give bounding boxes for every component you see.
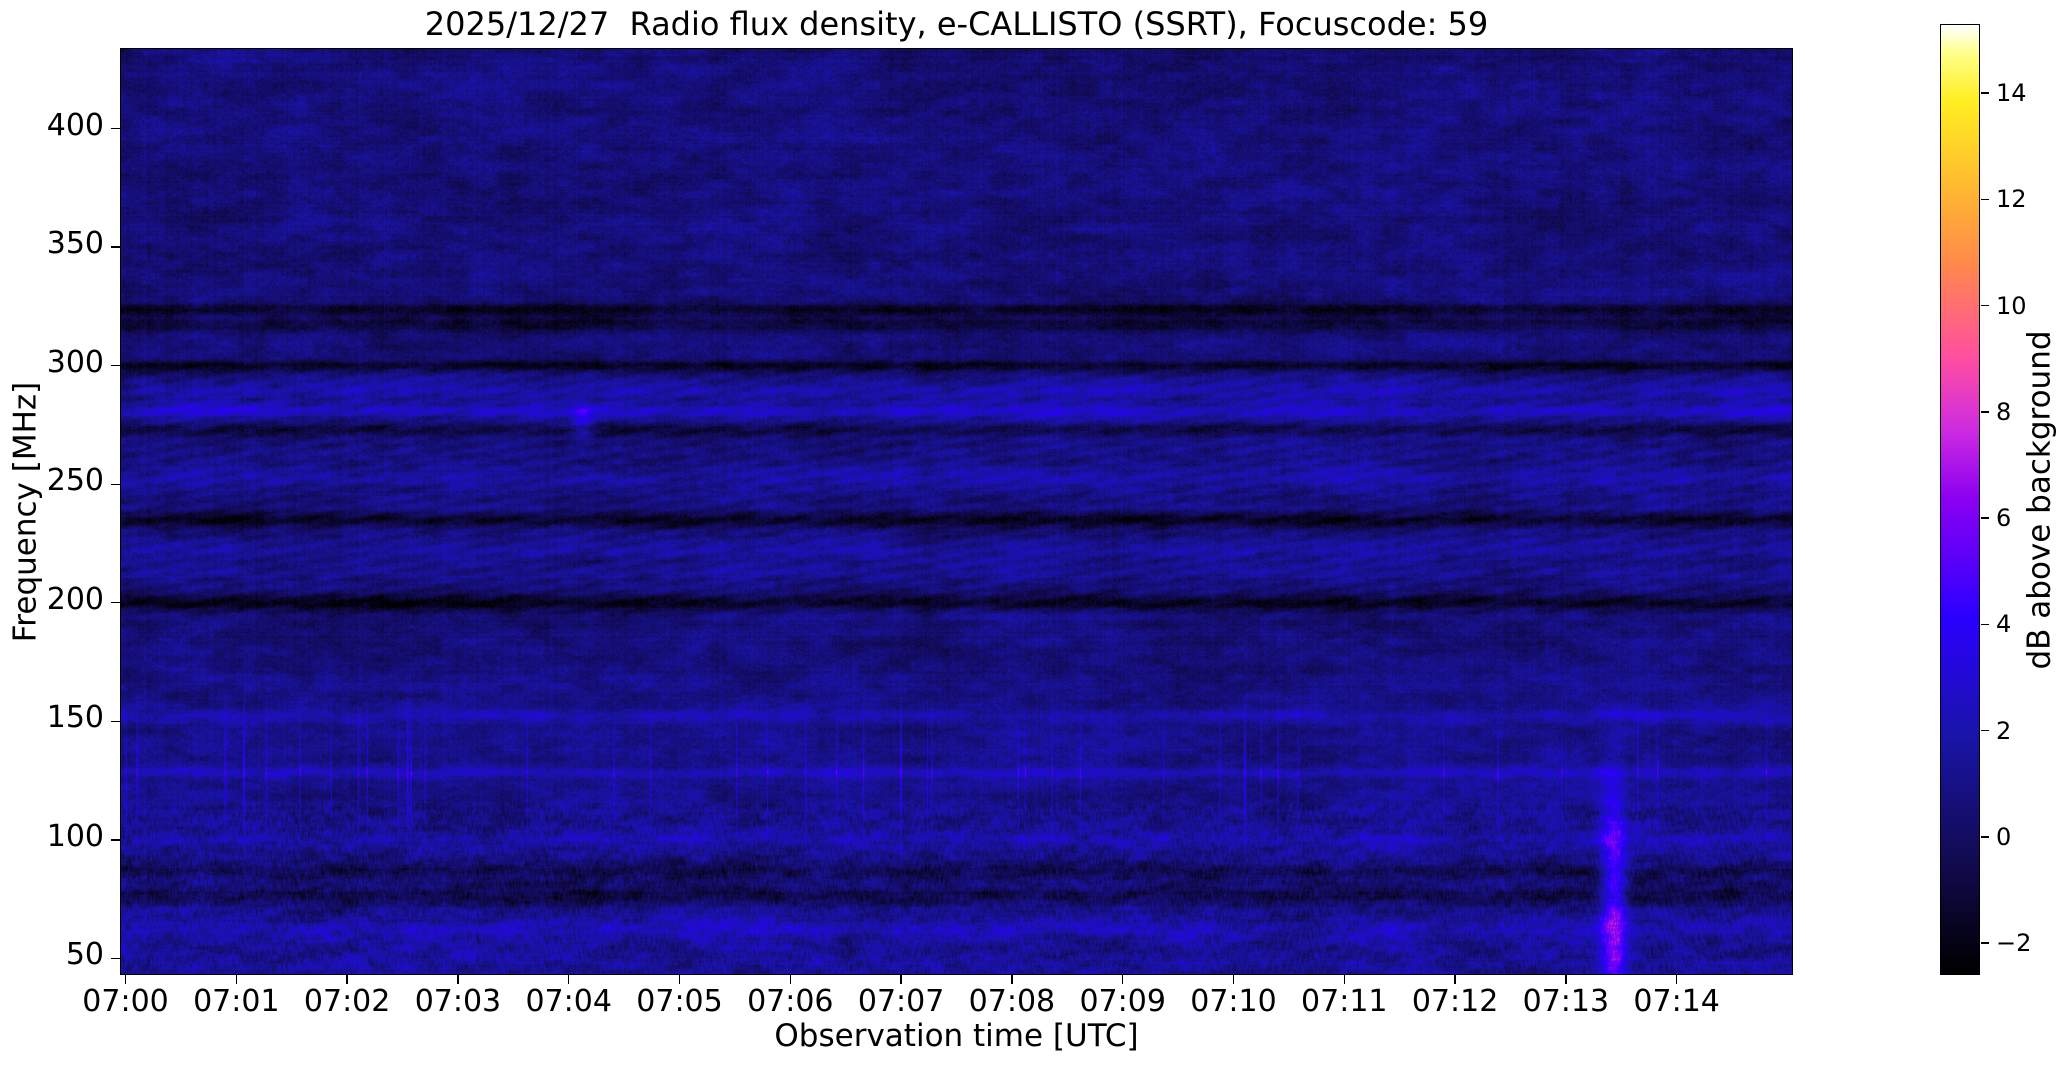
x-tick-label: 07:09 xyxy=(1079,984,1165,1019)
x-tick-mark xyxy=(1454,975,1455,984)
y-tick-mark xyxy=(111,602,120,603)
x-tick-mark xyxy=(125,975,126,984)
x-tick-mark xyxy=(457,975,458,984)
x-tick-mark xyxy=(568,975,569,984)
y-tick-label: 100 xyxy=(34,819,104,854)
y-tick-label: 400 xyxy=(34,108,104,143)
colorbar-tick-mark xyxy=(1981,411,1989,412)
y-tick-label: 300 xyxy=(34,345,104,380)
x-tick-mark xyxy=(1011,975,1012,984)
colorbar-tick-mark xyxy=(1981,624,1989,625)
x-tick-mark xyxy=(900,975,901,984)
colorbar-tick-mark xyxy=(1981,305,1989,306)
x-tick-label: 07:10 xyxy=(1190,984,1276,1019)
page-title: 2025/12/27 Radio flux density, e-CALLIST… xyxy=(120,4,1793,44)
x-tick-mark xyxy=(1676,975,1677,984)
x-tick-label: 07:07 xyxy=(858,984,944,1019)
x-tick-label: 07:05 xyxy=(636,984,722,1019)
colorbar-tick-label: 2 xyxy=(1996,717,2011,745)
x-tick-mark xyxy=(1233,975,1234,984)
x-tick-mark xyxy=(1344,975,1345,984)
colorbar-gradient xyxy=(1941,25,1979,974)
x-tick-label: 07:08 xyxy=(969,984,1055,1019)
y-tick-label: 250 xyxy=(34,463,104,498)
x-tick-label: 07:01 xyxy=(193,984,279,1019)
x-tick-label: 07:11 xyxy=(1301,984,1387,1019)
x-axis-label: Observation time [UTC] xyxy=(120,1018,1793,1054)
colorbar-tick-label: 8 xyxy=(1996,398,2011,426)
colorbar-tick-label: 6 xyxy=(1996,504,2011,532)
y-tick-mark xyxy=(111,128,120,129)
figure-canvas: 2025/12/27 Radio flux density, e-CALLIST… xyxy=(0,0,2066,1067)
y-tick-mark xyxy=(111,721,120,722)
y-tick-label: 150 xyxy=(34,700,104,735)
spectrogram-plot-area xyxy=(120,48,1793,975)
colorbar-label: dB above background xyxy=(2018,24,2062,975)
colorbar-tick-mark xyxy=(1981,836,1989,837)
colorbar-tick-mark xyxy=(1981,199,1989,200)
colorbar-tick-label: 4 xyxy=(1996,610,2011,638)
x-tick-mark xyxy=(1565,975,1566,984)
x-tick-label: 07:12 xyxy=(1412,984,1498,1019)
colorbar-tick-mark xyxy=(1981,942,1989,943)
x-tick-label: 07:13 xyxy=(1523,984,1609,1019)
x-tick-mark xyxy=(236,975,237,984)
y-tick-mark xyxy=(111,958,120,959)
x-tick-label: 07:02 xyxy=(304,984,390,1019)
y-tick-label: 350 xyxy=(34,226,104,261)
x-tick-label: 07:04 xyxy=(525,984,611,1019)
colorbar xyxy=(1940,24,1980,975)
y-tick-mark xyxy=(111,365,120,366)
x-tick-label: 07:06 xyxy=(747,984,833,1019)
colorbar-tick-mark xyxy=(1981,730,1989,731)
y-tick-mark xyxy=(111,839,120,840)
y-tick-label: 50 xyxy=(34,937,104,972)
y-tick-mark xyxy=(111,246,120,247)
x-tick-label: 07:14 xyxy=(1633,984,1719,1019)
x-tick-mark xyxy=(346,975,347,984)
x-tick-label: 07:00 xyxy=(82,984,168,1019)
y-tick-mark xyxy=(111,484,120,485)
colorbar-label-text: dB above background xyxy=(2022,330,2058,669)
x-tick-mark xyxy=(790,975,791,984)
colorbar-tick-mark xyxy=(1981,92,1989,93)
y-tick-label: 200 xyxy=(34,582,104,617)
x-tick-mark xyxy=(1122,975,1123,984)
colorbar-tick-mark xyxy=(1981,517,1989,518)
spectrogram-image xyxy=(121,49,1792,974)
x-tick-label: 07:03 xyxy=(415,984,501,1019)
x-tick-mark xyxy=(679,975,680,984)
colorbar-tick-label: 0 xyxy=(1996,823,2011,851)
